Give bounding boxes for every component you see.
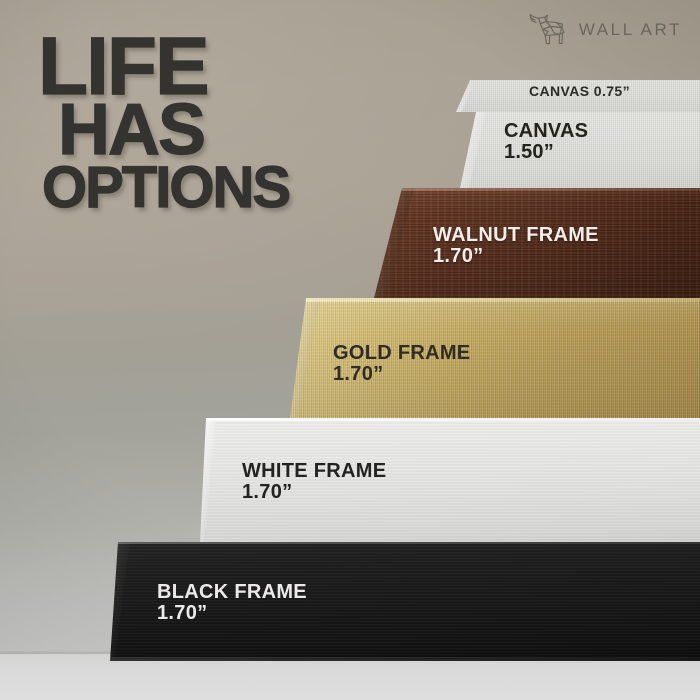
- black-frame-bottom-edge: [110, 657, 700, 661]
- brand-name: WALL ART: [579, 20, 682, 40]
- white-frame-top-highlight: [200, 418, 700, 421]
- product-options-poster: CANVAS 0.75” CANVAS 1.50” WALNUT FRAME 1…: [0, 0, 700, 700]
- page-title: LIFE HAS OPTIONS: [38, 34, 289, 212]
- black-frame-label: BLACK FRAME 1.70”: [157, 582, 307, 624]
- walnut-frame-label: WALNUT FRAME 1.70”: [433, 225, 599, 267]
- headline-line-3: OPTIONS: [38, 165, 289, 211]
- headline-line-2: HAS: [38, 102, 289, 160]
- canvas-150-label: CANVAS 1.50”: [504, 121, 588, 163]
- walnut-frame-top-highlight: [374, 188, 700, 191]
- black-frame-top-highlight: [110, 542, 700, 544]
- white-frame-label: WHITE FRAME 1.70”: [242, 461, 386, 503]
- canvas-075-label: CANVAS 0.75”: [529, 84, 630, 99]
- gold-frame-label: GOLD FRAME 1.70”: [333, 343, 470, 385]
- gold-frame-top-highlight: [290, 298, 700, 302]
- brand-logo[interactable]: WALL ART: [528, 13, 682, 47]
- origami-goat-icon: [528, 13, 572, 47]
